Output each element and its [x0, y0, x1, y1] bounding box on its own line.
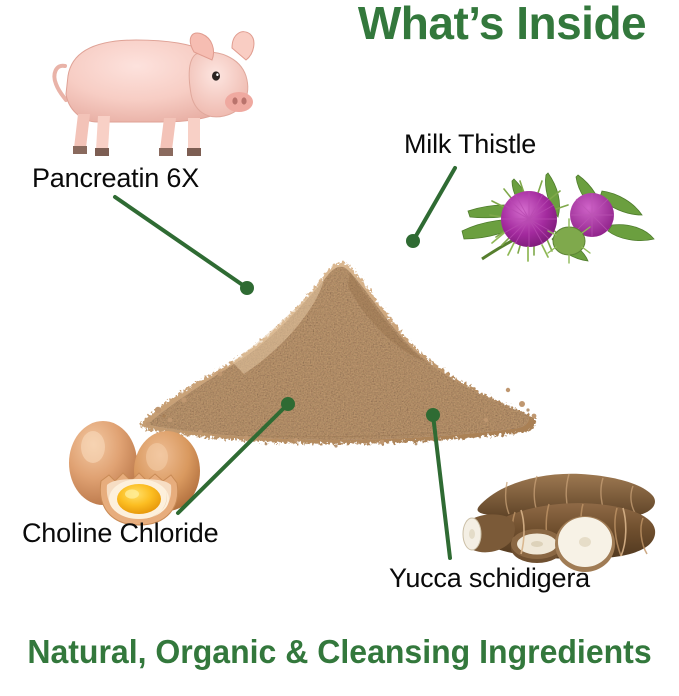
callout-label-choline-chloride: Choline Chloride: [22, 518, 218, 549]
callout-label-pancreatin: Pancreatin 6X: [32, 163, 199, 194]
pig-photo: [36, 14, 258, 160]
footer-tagline: Natural, Organic & Cleansing Ingredients: [10, 633, 669, 671]
eggs-photo: [55, 415, 230, 530]
callout-label-milk-thistle: Milk Thistle: [404, 129, 536, 160]
callout-label-yucca-schidigera: Yucca schidigera: [389, 563, 590, 594]
whats-inside-infographic: What’s Inside: [0, 0, 679, 696]
yucca-photo: [463, 462, 659, 568]
page-title: What’s Inside: [326, 0, 678, 50]
